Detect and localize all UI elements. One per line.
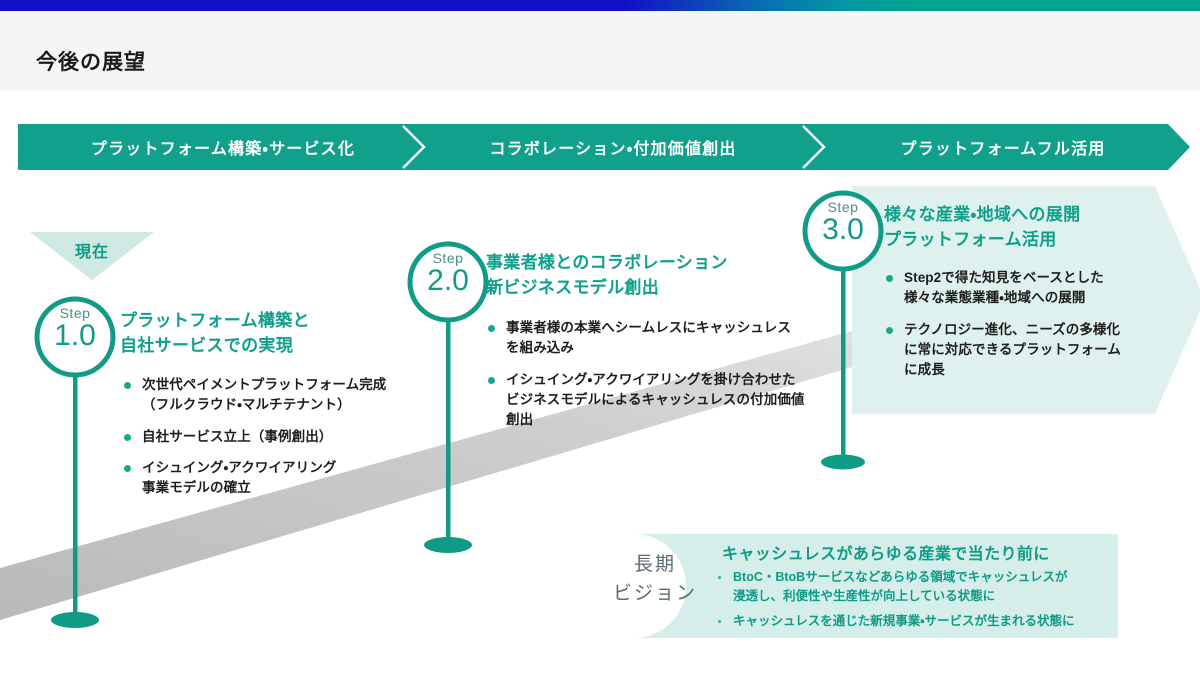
bullet-dot-icon xyxy=(488,325,495,332)
step-1-badge-word: Step xyxy=(37,306,113,320)
vision-bullet-2-text: キャッシュレスを通じた新規事業・サービスが生まれる状態に xyxy=(733,612,1075,631)
step-2-bullet-2-text: イシュイング・アクワイアリングを掛け合わせた ビジネスモデルによるキャッシュレス… xyxy=(506,370,805,431)
vision-bullets: BtoC・BtoBサービスなどあらゆる領域でキャッシュレスが 浸透し、利便性や生… xyxy=(718,568,1118,636)
step-1-heading: プラットフォーム構築と 自社サービスでの実現 xyxy=(120,309,420,358)
bullet-dot-icon xyxy=(124,434,131,441)
step-1-bullet-1: 次世代ペイメントプラットフォーム完成 （フルクラウド・マルチテナント） xyxy=(124,375,424,416)
step-3-badge-word: Step xyxy=(805,200,881,214)
step-2-bullet-2: イシュイング・アクワイアリングを掛け合わせた ビジネスモデルによるキャッシュレス… xyxy=(488,370,818,431)
step-3-badge-number: 3.0 xyxy=(805,214,881,246)
step-2-badge-word: Step xyxy=(410,251,486,265)
step-3-bullet-2-text: テクノロジー進化、ニーズの多様化 に常に対応できるプラットフォーム に成長 xyxy=(904,320,1121,381)
step-3-bullets: Step2で得た知見をベースとした 様々な業態業種・地域への展開 テクノロジー進… xyxy=(886,268,1166,391)
vision-bullet-1-text: BtoC・BtoBサービスなどあらゆる領域でキャッシュレスが 浸透し、利便性や生… xyxy=(733,568,1067,607)
step-2-badge: Step 2.0 xyxy=(410,251,486,297)
current-marker: 現在 xyxy=(22,228,162,284)
step-3-bullet-1: Step2で得た知見をベースとした 様々な業態業種・地域への展開 xyxy=(886,268,1166,309)
step-1-badge-number: 1.0 xyxy=(37,320,113,352)
phase-label-3: プラットフォームフル活用 xyxy=(838,124,1168,170)
vision-bullet-1: BtoC・BtoBサービスなどあらゆる領域でキャッシュレスが 浸透し、利便性や生… xyxy=(718,568,1118,607)
step-2-heading: 事業者様とのコラボレーション 新ビジネスモデル創出 xyxy=(486,251,816,300)
step-3-bullet-2: テクノロジー進化、ニーズの多様化 に常に対応できるプラットフォーム に成長 xyxy=(886,320,1166,381)
bullet-dot-icon xyxy=(124,465,131,472)
step-3-bullet-1-text: Step2で得た知見をベースとした 様々な業態業種・地域への展開 xyxy=(904,268,1104,309)
bullet-dot-icon xyxy=(124,382,131,389)
vision-badge-label: 長期 ビジョン xyxy=(600,550,710,609)
vision-title: キャッシュレスがあらゆる産業で当たり前に xyxy=(722,540,1050,564)
phase-banner: プラットフォーム構築・サービス化 コラボレーション・付加価値創出 プラットフォー… xyxy=(18,124,1190,170)
step-1-bullets: 次世代ペイメントプラットフォーム完成 （フルクラウド・マルチテナント） 自社サー… xyxy=(124,375,424,509)
current-marker-label: 現在 xyxy=(22,238,162,262)
step-2-bullets: 事業者様の本業へシームレスにキャッシュレス を組み込み イシュイング・アクワイア… xyxy=(488,318,818,441)
bullet-dot-icon xyxy=(718,576,721,579)
step-1-bullet-2: 自社サービス立上（事例創出） xyxy=(124,427,424,447)
bullet-dot-icon xyxy=(488,377,495,384)
step-2-badge-number: 2.0 xyxy=(410,265,486,297)
step-3-badge: Step 3.0 xyxy=(805,200,881,246)
phase-label-2: コラボレーション・付加価値創出 xyxy=(448,124,778,170)
step-pin-1: Step 1.0 xyxy=(30,292,122,632)
bullet-dot-icon xyxy=(718,620,721,623)
vision-bullet-2: キャッシュレスを通じた新規事業・サービスが生まれる状態に xyxy=(718,612,1118,631)
step-1-bullet-3-text: イシュイング・アクワイアリング 事業モデルの確立 xyxy=(142,458,336,499)
step-1-bullet-2-text: 自社サービス立上（事例創出） xyxy=(142,427,332,447)
slide-root: 今後の展望 プラットフォーム構築・サービス化 コラボレーション・付加価値創出 プ… xyxy=(0,0,1200,675)
phase-label-1: プラットフォーム構築・サービス化 xyxy=(58,124,388,170)
step-2-bullet-1-text: 事業者様の本業へシームレスにキャッシュレス を組み込み xyxy=(506,318,791,359)
step-pin-3: Step 3.0 xyxy=(798,186,890,476)
step-1-bullet-1-text: 次世代ペイメントプラットフォーム完成 （フルクラウド・マルチテナント） xyxy=(142,375,386,416)
footer: CCIG 北國銀行 Infcurion © 2026 CCI Group, In… xyxy=(0,641,1200,675)
bullet-dot-icon xyxy=(886,275,893,282)
step-2-bullet-1: 事業者様の本業へシームレスにキャッシュレス を組み込み xyxy=(488,318,818,359)
step-3-heading: 様々な産業・地域への展開 プラットフォーム活用 xyxy=(884,203,1184,252)
step-1-badge: Step 1.0 xyxy=(37,306,113,352)
step-1-bullet-3: イシュイング・アクワイアリング 事業モデルの確立 xyxy=(124,458,424,499)
step-pin-2: Step 2.0 xyxy=(403,237,495,557)
bullet-dot-icon xyxy=(886,327,893,334)
